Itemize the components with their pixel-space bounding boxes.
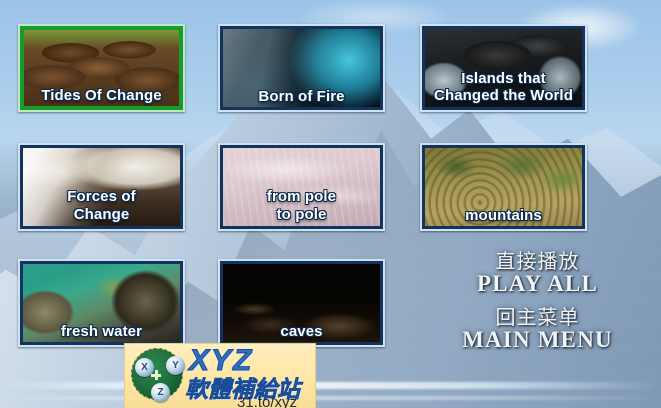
chapter-thumb-image: Born of Fire bbox=[223, 29, 380, 107]
watermark-url: 31.to/xyz bbox=[237, 394, 297, 408]
main-menu-label-english: MAIN MENU bbox=[430, 328, 645, 353]
watermark-xyz: X Y Z XYZ 軟體補給站 31.to/xyz bbox=[124, 343, 316, 408]
chapter-art bbox=[24, 30, 179, 106]
chapter-art bbox=[425, 29, 582, 107]
play-all-button[interactable]: 直接播放 PLAY ALL bbox=[430, 250, 645, 297]
chapter-art bbox=[425, 148, 582, 226]
chapter-thumb-image: caves bbox=[223, 264, 380, 342]
chapter-art bbox=[23, 148, 180, 226]
chapter-thumb-from-pole-to-pole[interactable]: from pole to pole bbox=[218, 143, 385, 231]
watermark-ball-z-icon: Z bbox=[151, 383, 170, 402]
chapter-thumb-fresh-water[interactable]: fresh water bbox=[18, 259, 185, 347]
chapter-thumb-born-of-fire[interactable]: Born of Fire bbox=[218, 24, 385, 112]
main-menu-label-chinese: 回主菜单 bbox=[430, 306, 645, 328]
chapter-thumb-image: from pole to pole bbox=[223, 148, 380, 226]
chapter-thumb-image: Forces of Change bbox=[23, 148, 180, 226]
chapter-art bbox=[23, 264, 180, 342]
play-all-label-english: PLAY ALL bbox=[430, 272, 645, 297]
chapter-thumb-image: fresh water bbox=[23, 264, 180, 342]
chapter-thumb-islands-that-changed-the-world[interactable]: Islands that Changed the World bbox=[420, 24, 587, 112]
play-all-label-chinese: 直接播放 bbox=[430, 250, 645, 272]
chapter-art bbox=[223, 264, 380, 342]
chapter-art bbox=[223, 29, 380, 107]
chapter-art bbox=[223, 148, 380, 226]
dvd-menu-screen: Tides Of Change Born of Fire Islands tha… bbox=[0, 0, 661, 408]
chapter-thumb-image: Islands that Changed the World bbox=[425, 29, 582, 107]
chapter-thumb-mountains[interactable]: mountains bbox=[420, 143, 587, 231]
watermark-ball-y-icon: Y bbox=[166, 356, 185, 375]
chapter-thumb-image: Tides Of Change bbox=[24, 30, 179, 106]
main-menu-button[interactable]: 回主菜单 MAIN MENU bbox=[430, 306, 645, 353]
chapter-thumb-image: mountains bbox=[425, 148, 582, 226]
chapter-thumb-forces-of-change[interactable]: Forces of Change bbox=[18, 143, 185, 231]
chapter-thumb-caves[interactable]: caves bbox=[218, 259, 385, 347]
chapter-thumb-tides-of-change[interactable]: Tides Of Change bbox=[18, 24, 185, 112]
watermark-plus-icon bbox=[151, 370, 161, 380]
